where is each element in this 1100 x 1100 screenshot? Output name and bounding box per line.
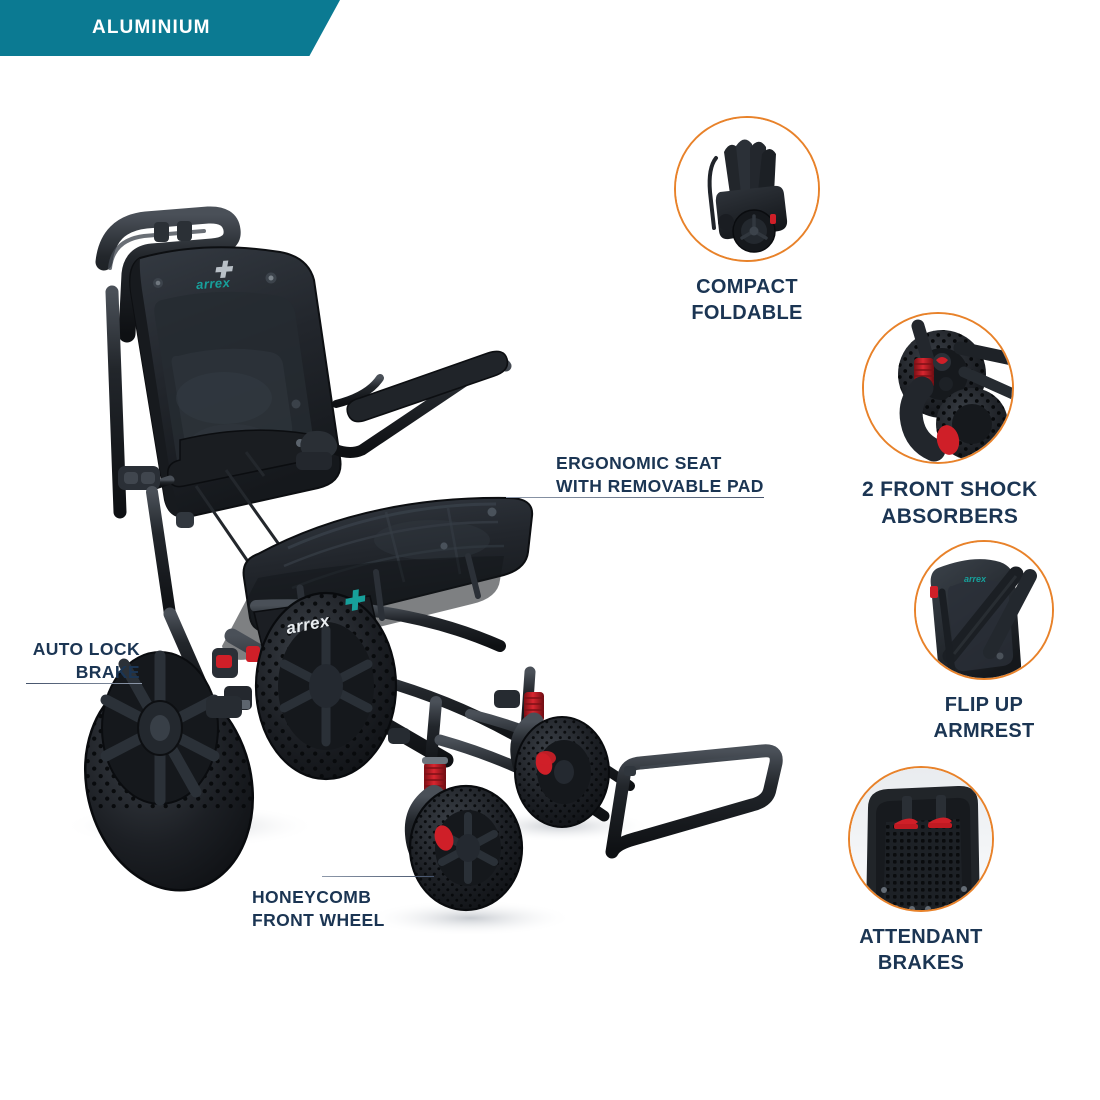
leader-line-ergonomic-seat — [506, 497, 764, 498]
feature-caption-line: COMPACT — [674, 274, 820, 300]
feature-image-front-shock-absorbers — [862, 312, 1014, 464]
feature-image-flip-up-armrest: arrex — [914, 540, 1054, 680]
feature-front-shock-absorbers[interactable]: 2 FRONT SHOCK ABSORBERS — [862, 312, 1037, 531]
feature-caption-compact-foldable: COMPACT FOLDABLE — [674, 274, 820, 326]
feature-caption-line: BRAKES — [848, 950, 994, 976]
feature-flip-up-armrest[interactable]: arrex FLIP UP ARMREST — [914, 540, 1054, 744]
brand-plus-icon: ✚ — [212, 259, 232, 282]
brand-plus-icon: ✚ — [340, 586, 367, 616]
frame-brand-text: arrex — [284, 611, 331, 638]
material-banner-label: ALUMINIUM — [92, 17, 211, 39]
material-banner: ALUMINIUM — [0, 0, 340, 56]
svg-text:arrex: arrex — [964, 574, 987, 584]
feature-caption-line: 2 FRONT SHOCK — [862, 476, 1037, 503]
leader-line-auto-lock-brake — [26, 683, 142, 684]
callout-honeycomb-front-wheel: HONEYCOMB FRONT WHEEL — [252, 886, 472, 932]
feature-caption-line: ABSORBERS — [862, 503, 1037, 530]
feature-caption-line: ARMREST — [914, 718, 1054, 744]
frame-brand-logo: arrex ✚ — [284, 611, 331, 639]
callout-ergonomic-seat: ERGONOMIC SEAT WITH REMOVABLE PAD — [556, 452, 786, 498]
callout-line: HONEYCOMB — [252, 886, 472, 909]
feature-caption-attendant-brakes: ATTENDANT BRAKES — [848, 924, 994, 976]
callout-auto-lock-brake: AUTO LOCK BRAKE — [0, 638, 140, 684]
feature-image-attendant-brakes — [848, 766, 994, 912]
feature-image-compact-foldable — [674, 116, 820, 262]
backrest-brand-logo: ✚ arrex — [196, 275, 231, 292]
feature-caption-line: ATTENDANT — [848, 924, 994, 950]
callout-line: BRAKE — [0, 661, 140, 684]
feature-compact-foldable[interactable]: COMPACT FOLDABLE — [674, 116, 820, 326]
leader-line-honeycomb-front-wheel — [322, 876, 434, 877]
infographic-canvas: ALUMINIUM — [0, 0, 1100, 1100]
feature-caption-front-shock-absorbers: 2 FRONT SHOCK ABSORBERS — [862, 476, 1037, 531]
callout-line: FRONT WHEEL — [252, 909, 472, 932]
feature-caption-flip-up-armrest: FLIP UP ARMREST — [914, 692, 1054, 744]
callout-line: ERGONOMIC SEAT — [556, 452, 786, 475]
callout-line: WITH REMOVABLE PAD — [556, 475, 786, 498]
callout-line: AUTO LOCK — [0, 638, 140, 661]
feature-attendant-brakes[interactable]: ATTENDANT BRAKES — [848, 766, 994, 976]
feature-caption-line: FLIP UP — [914, 692, 1054, 718]
feature-caption-line: FOLDABLE — [674, 300, 820, 326]
